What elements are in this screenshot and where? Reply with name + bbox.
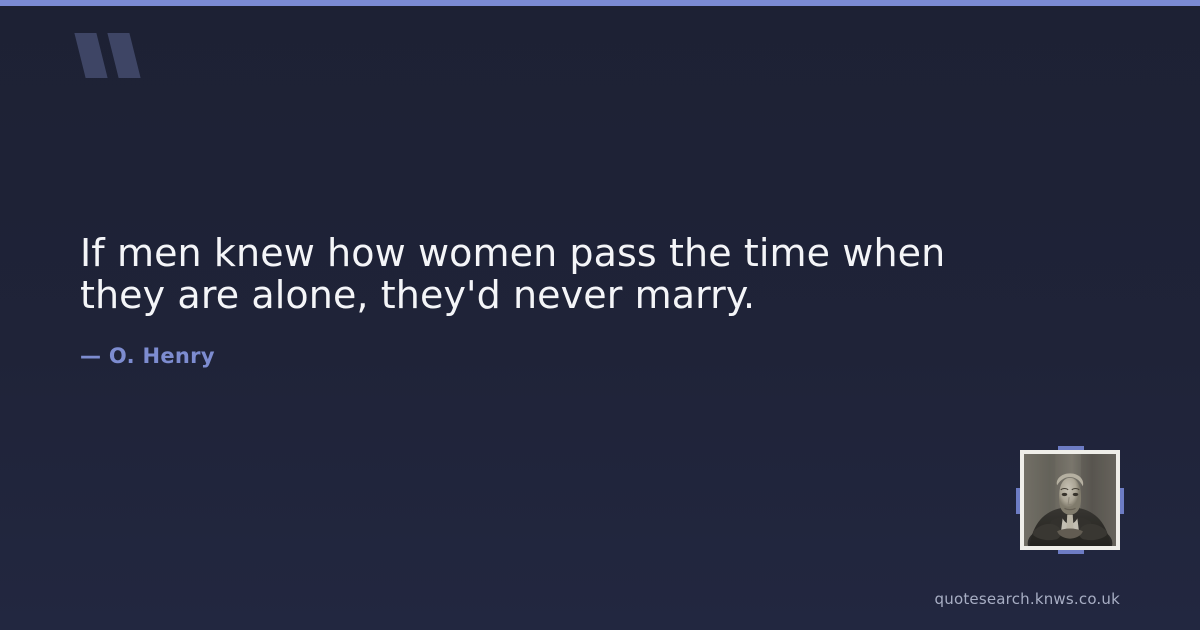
portrait-photo: [1024, 454, 1116, 546]
quote-mark-stroke-left: [74, 33, 107, 78]
quote-card: If men knew how women pass the time when…: [0, 0, 1200, 630]
top-accent-bar: [0, 0, 1200, 6]
portrait-frame: [1020, 450, 1120, 550]
portrait-tick-right: [1120, 488, 1124, 514]
portrait-tick-bottom: [1058, 550, 1084, 554]
quote-body: If men knew how women pass the time when…: [80, 232, 960, 316]
quote-text: If men knew how women pass the time when…: [80, 232, 960, 316]
quote-attribution: — O. Henry: [80, 344, 215, 368]
author-portrait: [1020, 450, 1120, 550]
source-url: quotesearch.knws.co.uk: [935, 590, 1120, 608]
opening-quote-icon: [80, 22, 150, 94]
quote-mark-stroke-right: [107, 33, 140, 78]
